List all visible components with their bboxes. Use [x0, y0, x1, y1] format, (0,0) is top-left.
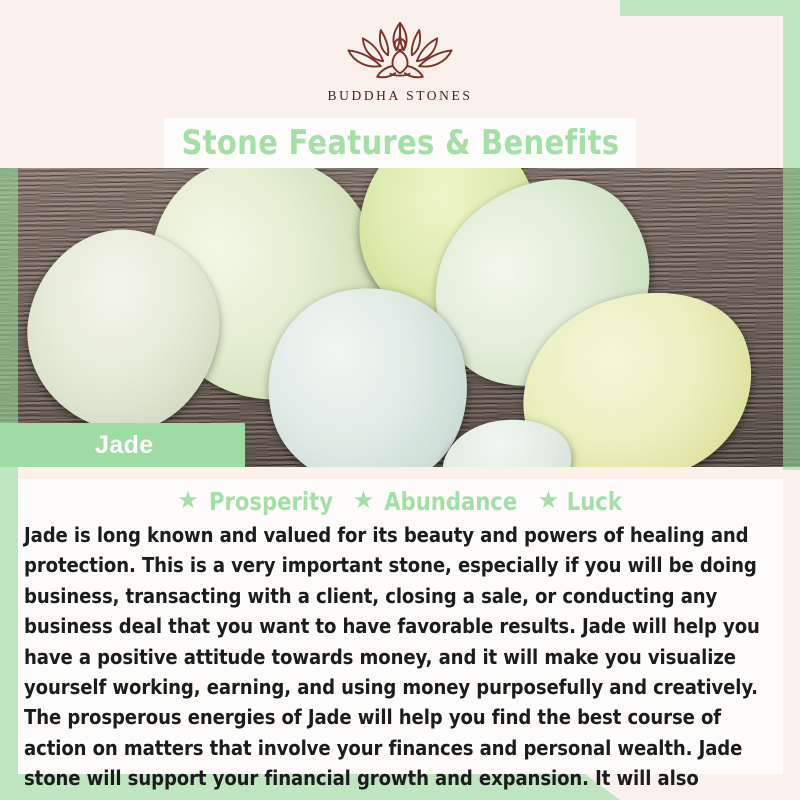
section-title-band: Stone Features & Benefits — [164, 118, 636, 168]
star-icon: ★ — [177, 489, 199, 513]
infographic-page: BUDDHA STONES Stone Features & Benefits … — [0, 0, 800, 800]
hero-right-overlay — [783, 168, 800, 467]
star-icon: ★ — [538, 489, 560, 513]
benefit-label: Luck — [567, 487, 622, 516]
benefit-label: Prosperity — [209, 487, 333, 516]
stone-description: Jade is long known and valued for its be… — [24, 520, 766, 800]
cream-divider — [18, 467, 783, 479]
content-panel: ★ Prosperity ★ Abundance ★ Luck Jade is … — [18, 479, 783, 774]
brand-name: BUDDHA STONES — [328, 88, 473, 104]
benefit-item: ★ Abundance — [353, 487, 522, 516]
star-icon: ★ — [353, 489, 375, 513]
benefit-label: Abundance — [384, 487, 517, 516]
benefit-item: ★ Luck — [538, 487, 624, 516]
brand-header: BUDDHA STONES — [0, 0, 800, 118]
page-title: Stone Features & Benefits — [181, 123, 619, 163]
lotus-meditation-icon — [340, 18, 460, 84]
stone-name-banner: Jade — [0, 423, 245, 467]
stone-name-label: Jade — [95, 431, 154, 460]
benefit-item: ★ Prosperity — [177, 487, 337, 516]
benefits-row: ★ Prosperity ★ Abundance ★ Luck — [24, 484, 777, 518]
